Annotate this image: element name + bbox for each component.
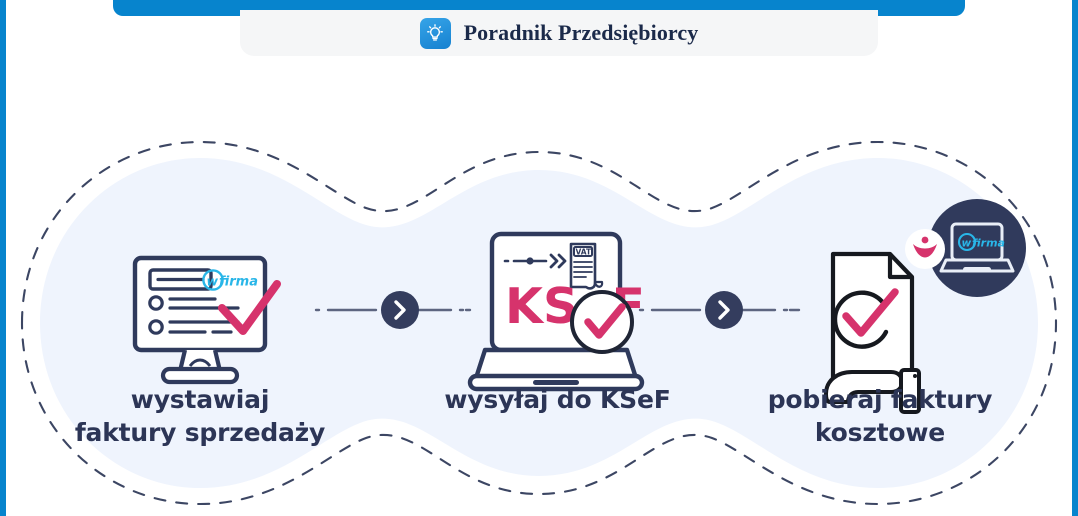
connector-node	[381, 291, 419, 329]
svg-text:w: w	[207, 274, 219, 289]
screenshot-stage: Poradnik Przedsiębiorcy	[0, 0, 1078, 516]
lightbulb-icon	[420, 18, 451, 49]
svg-text:VAT: VAT	[576, 248, 593, 257]
svg-text:firma: firma	[972, 237, 1005, 250]
step-label-line2: faktury sprzedaży	[60, 416, 340, 449]
flow-diagram: w firma	[0, 58, 1078, 516]
step-label-line1: wysyłaj do KSeF	[420, 383, 695, 416]
step-label-send-to-ksef: wysyłaj do KSeF	[420, 383, 695, 416]
header-panel: Poradnik Przedsiębiorcy	[240, 10, 878, 56]
step-label-issue-invoices: wystawiaj faktury sprzedaży	[60, 383, 340, 449]
step-label-line2: kosztowe	[740, 416, 1020, 449]
step-label-line1: pobieraj faktury	[740, 383, 1020, 416]
connector-node	[705, 291, 743, 329]
laptop-ksef-icon: VAT KSeF	[470, 234, 645, 389]
step-label-line1: wystawiaj	[60, 383, 340, 416]
step-label-download-cost-invoices: pobieraj faktury kosztowe	[740, 383, 1020, 449]
svg-text:w: w	[962, 238, 972, 250]
check-badge-circle	[572, 292, 632, 352]
svg-text:firma: firma	[219, 275, 258, 290]
page-title: Poradnik Przedsiębiorcy	[464, 20, 699, 46]
